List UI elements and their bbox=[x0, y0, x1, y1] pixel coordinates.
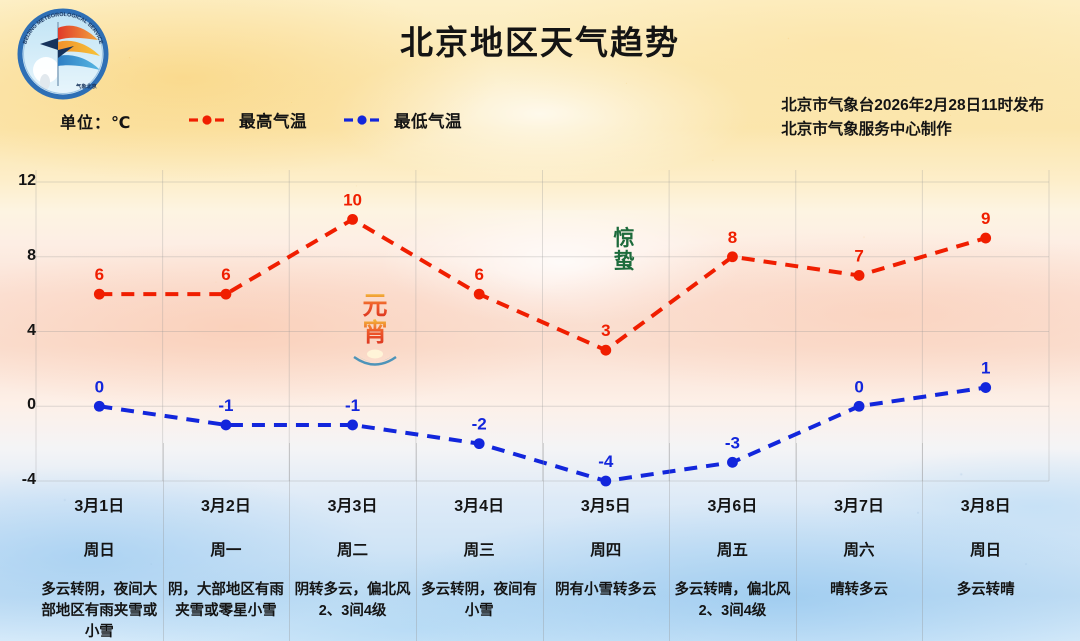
day-column-1[interactable]: 3月1日周日多云转阴，夜间大部地区有雨夹雪或小雪 bbox=[36, 487, 163, 641]
day-date: 3月4日 bbox=[454, 492, 504, 516]
value-label-high-7: 9 bbox=[981, 209, 990, 228]
data-point-high-2 bbox=[347, 214, 358, 225]
day-weekday: 周日 bbox=[84, 538, 115, 560]
jingzhe-solar-term-annotation: 惊 蛰 bbox=[604, 228, 644, 273]
day-weekday: 周二 bbox=[337, 538, 368, 560]
data-point-low-3 bbox=[474, 438, 485, 449]
data-point-low-6 bbox=[854, 401, 865, 412]
day-description: 多云转阴，夜间大部地区有雨夹雪或小雪 bbox=[36, 580, 163, 641]
data-point-low-1 bbox=[221, 420, 232, 431]
data-point-low-5 bbox=[727, 457, 738, 468]
value-label-low-5: -3 bbox=[725, 433, 740, 452]
day-date: 3月2日 bbox=[201, 492, 251, 516]
day-description: 晴转多云 bbox=[796, 580, 923, 601]
data-point-high-1 bbox=[221, 289, 232, 300]
temperature-line-chart: 6610638790-1-1-2-4-301 bbox=[0, 0, 1080, 500]
jingzhe-char-1: 惊 bbox=[604, 228, 644, 251]
day-description: 阴有小雪转多云 bbox=[543, 580, 670, 601]
data-point-high-3 bbox=[474, 289, 485, 300]
day-date: 3月1日 bbox=[74, 492, 124, 516]
day-column-8[interactable]: 3月8日周日多云转晴 bbox=[922, 487, 1049, 641]
day-description: 多云转晴 bbox=[922, 580, 1049, 601]
daily-forecast-table: 3月1日周日多云转阴，夜间大部地区有雨夹雪或小雪3月2日周一阴，大部地区有雨夹雪… bbox=[36, 487, 1049, 637]
day-column-6[interactable]: 3月6日周五多云转晴，偏北风2、3间4级 bbox=[669, 487, 796, 641]
day-column-7[interactable]: 3月7日周六晴转多云 bbox=[796, 487, 923, 641]
day-date: 3月3日 bbox=[328, 492, 378, 516]
day-weekday: 周六 bbox=[844, 538, 875, 560]
day-weekday: 周四 bbox=[590, 538, 621, 560]
day-weekday: 周一 bbox=[210, 538, 241, 560]
data-point-low-4 bbox=[600, 476, 611, 487]
data-point-high-6 bbox=[854, 270, 865, 281]
value-label-high-6: 7 bbox=[854, 246, 863, 265]
day-column-3[interactable]: 3月3日周二阴转多云，偏北风2、3间4级 bbox=[289, 487, 416, 641]
value-label-high-4: 3 bbox=[601, 321, 610, 340]
jingzhe-char-2: 蛰 bbox=[604, 251, 644, 274]
value-label-low-7: 1 bbox=[981, 359, 990, 378]
data-point-high-4 bbox=[600, 345, 611, 356]
day-weekday: 周日 bbox=[970, 538, 1001, 560]
chart-vertical-separators bbox=[36, 170, 1049, 481]
day-weekday: 周三 bbox=[464, 538, 495, 560]
day-date: 3月8日 bbox=[961, 492, 1011, 516]
day-description: 阴，大部地区有雨夹雪或零星小雪 bbox=[163, 580, 290, 622]
weather-trend-infographic: BEIJING METEOROLOGICAL SERVICE 气象北京 北京地区… bbox=[0, 0, 1080, 641]
day-weekday: 周五 bbox=[717, 538, 748, 560]
value-label-low-0: 0 bbox=[95, 377, 104, 396]
day-description: 阴转多云，偏北风2、3间4级 bbox=[289, 580, 416, 622]
data-point-low-7 bbox=[980, 382, 991, 393]
day-date: 3月6日 bbox=[708, 492, 758, 516]
day-description: 多云转晴，偏北风2、3间4级 bbox=[669, 580, 796, 622]
value-label-high-5: 8 bbox=[728, 228, 737, 247]
value-label-low-1: -1 bbox=[218, 396, 233, 415]
day-date: 3月7日 bbox=[834, 492, 884, 516]
data-point-high-5 bbox=[727, 251, 738, 262]
day-column-2[interactable]: 3月2日周一阴，大部地区有雨夹雪或零星小雪 bbox=[163, 487, 290, 641]
day-description: 多云转阴，夜间有小雪 bbox=[416, 580, 543, 622]
value-label-low-2: -1 bbox=[345, 396, 360, 415]
data-point-low-2 bbox=[347, 420, 358, 431]
value-label-high-1: 6 bbox=[221, 265, 230, 284]
data-point-high-7 bbox=[980, 233, 991, 244]
value-label-low-4: -4 bbox=[598, 452, 614, 471]
day-column-5[interactable]: 3月5日周四阴有小雪转多云 bbox=[543, 487, 670, 641]
value-label-low-6: 0 bbox=[854, 377, 863, 396]
day-column-4[interactable]: 3月4日周三多云转阴，夜间有小雪 bbox=[416, 487, 543, 641]
value-label-high-0: 6 bbox=[95, 265, 104, 284]
value-label-high-2: 10 bbox=[343, 190, 362, 209]
data-point-low-0 bbox=[94, 401, 105, 412]
data-point-high-0 bbox=[94, 289, 105, 300]
value-label-high-3: 6 bbox=[474, 265, 483, 284]
day-date: 3月5日 bbox=[581, 492, 631, 516]
value-label-low-3: -2 bbox=[472, 415, 487, 434]
